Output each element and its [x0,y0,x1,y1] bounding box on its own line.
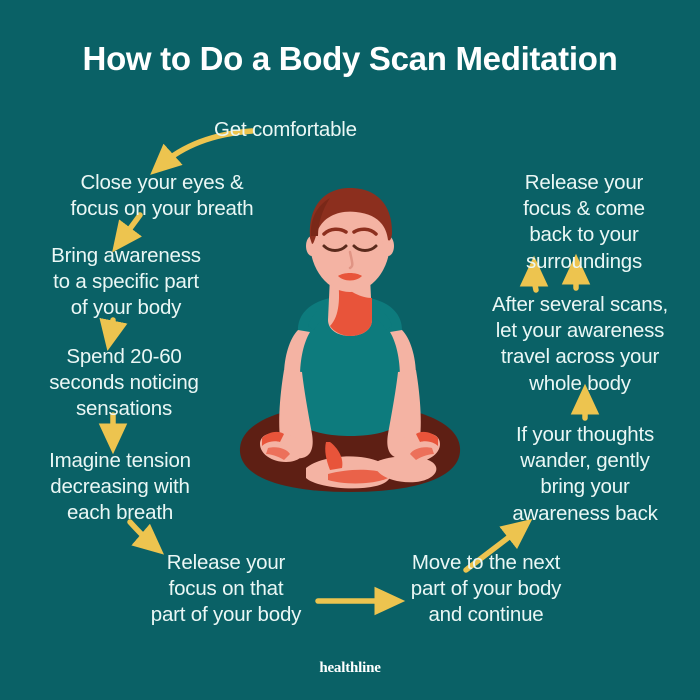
step-label-spend-20-60-seconds: Spend 20-60seconds noticingsensations [18,344,230,423]
step-label-move-to-next-part: Move to the nextpart of your bodyand con… [382,550,590,629]
page-title: How to Do a Body Scan Meditation [0,41,700,77]
step-label-release-come-back: Release yourfocus & comeback to yoursurr… [486,170,682,275]
step-label-after-several-scans: After several scans,let your awarenesstr… [470,292,690,397]
arrow-3-4 [110,320,113,338]
step-label-bring-awareness: Bring awarenessto a specific partof your… [18,243,234,322]
step-label-release-focus-part: Release yourfocus on thatpart of your bo… [124,550,328,629]
step-label-get-comfortable: Get comfortable [214,117,454,143]
healthline-logo: healthline [0,660,700,677]
person-meditating-illustration [180,180,520,540]
step-label-imagine-tension-decreasing: Imagine tensiondecreasing witheach breat… [16,448,224,527]
body-scan-meditation-infographic: How to Do a Body Scan Meditation [0,0,700,700]
step-label-close-eyes-focus-breath: Close your eyes &focus on your breath [34,170,290,222]
step-label-thoughts-wander: If your thoughtswander, gentlybring your… [482,422,688,527]
